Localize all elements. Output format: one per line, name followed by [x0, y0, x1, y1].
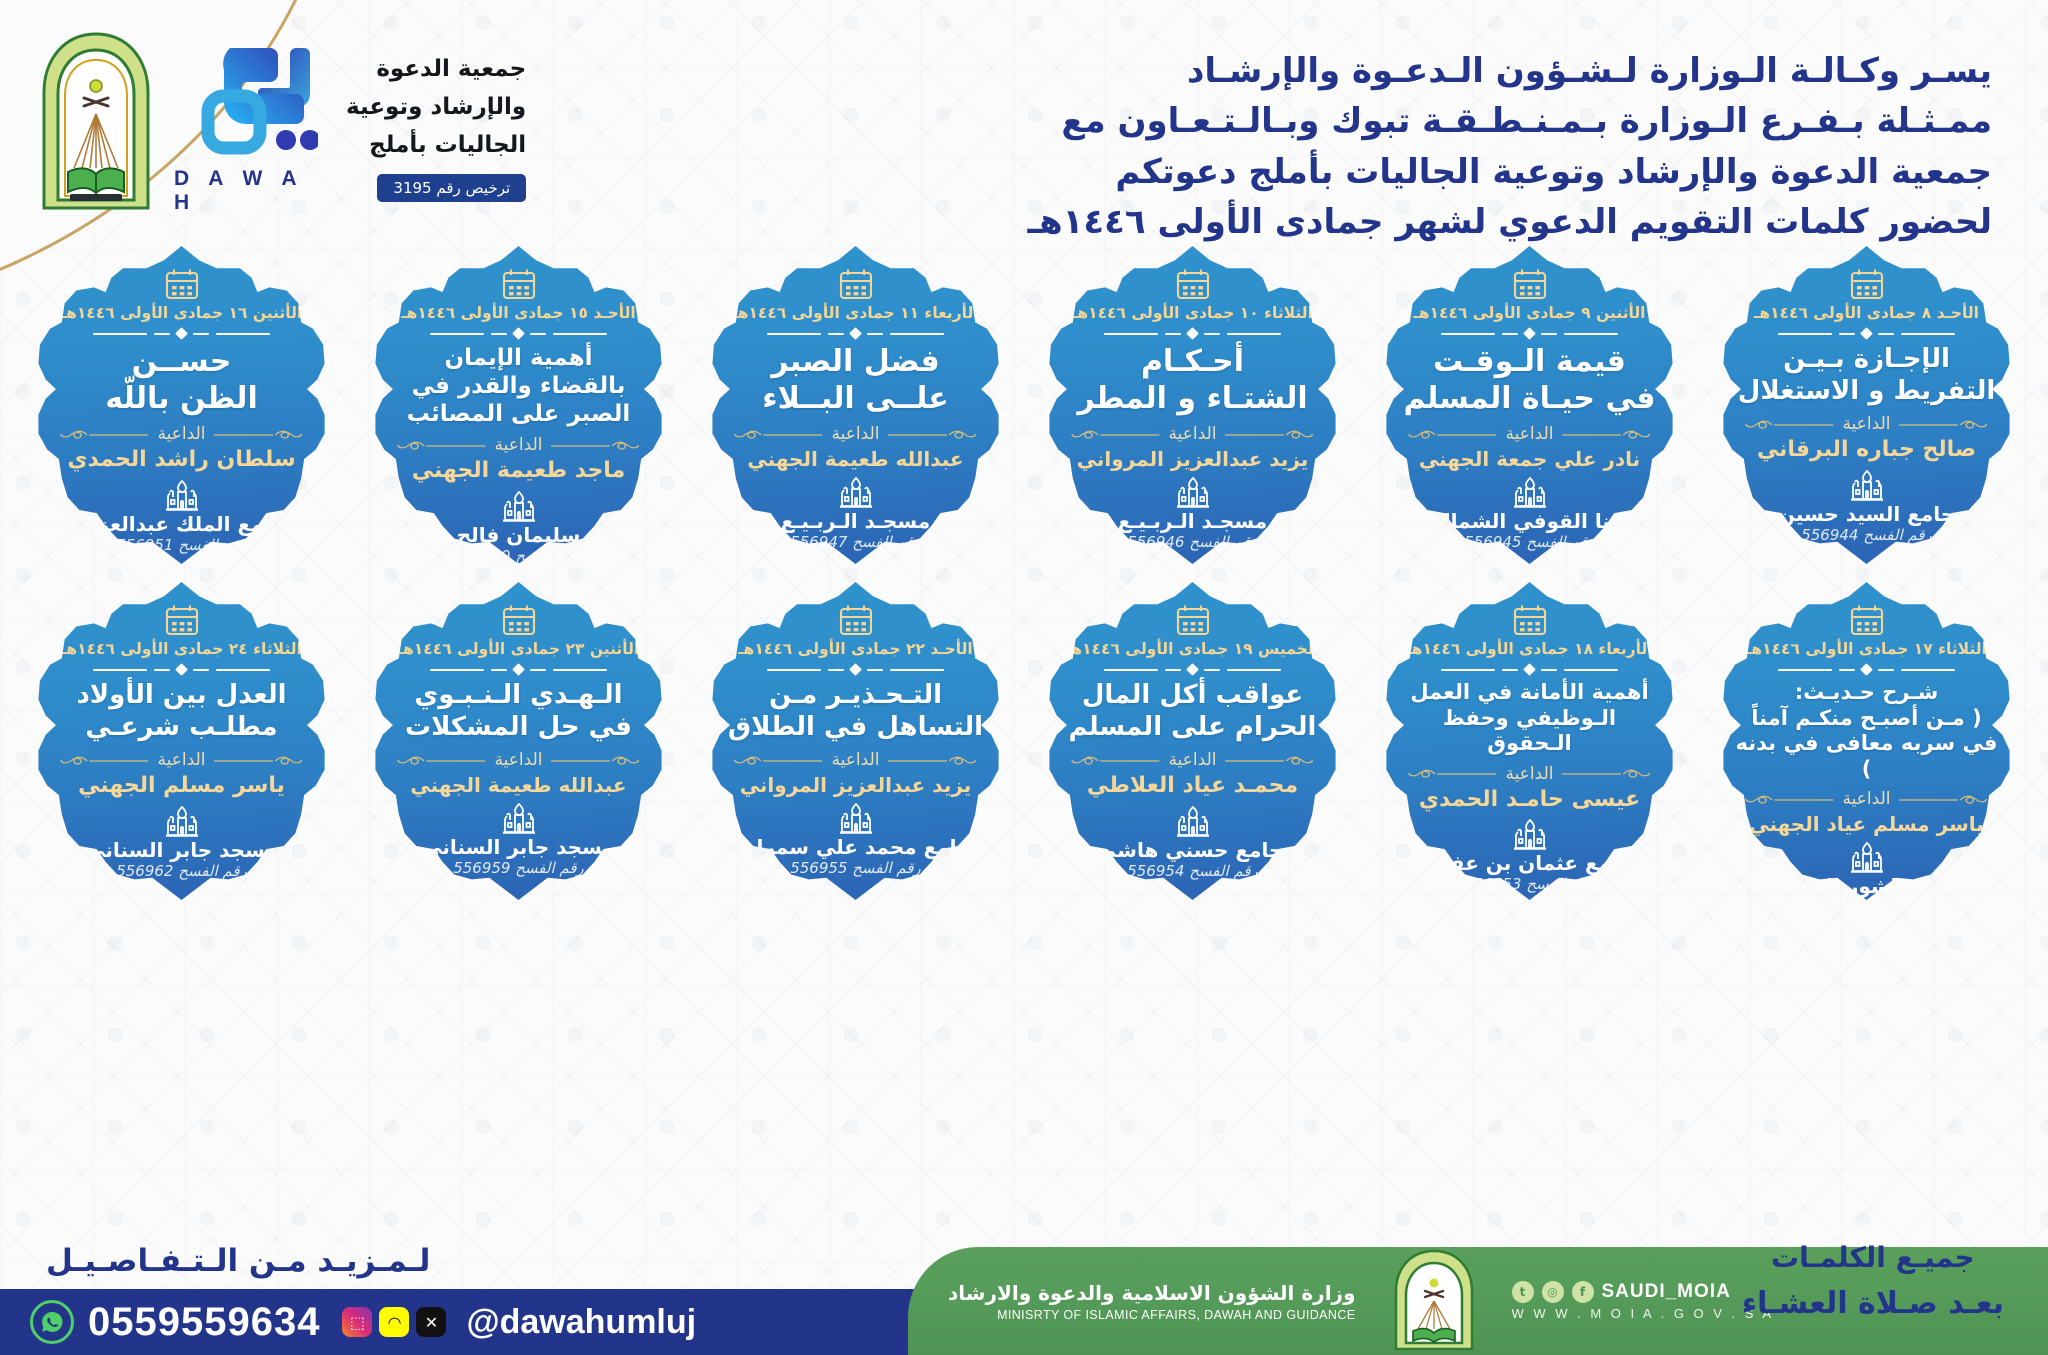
mosque-icon: [1173, 476, 1213, 508]
lecture-card[interactable]: الأربعاء ١١ جمادى الأولى ١٤٤٦هـ فضل الصب…: [710, 246, 1002, 564]
logo-group: D A W A H جمعية الدعوة والإرشاد وتوعية ا…: [34, 30, 526, 216]
mosque-icon: [836, 476, 876, 508]
card-fasah-number: رقم الفسح 556945: [1464, 533, 1595, 551]
speaker-label-row: الداعية: [1739, 414, 1994, 434]
speaker-label-row: الداعية: [54, 424, 309, 444]
card-date: الأثنين ١٦ جمادى الأولى ١٤٤٦هـ: [61, 304, 302, 322]
card-title-line: الإجـازة بـيـن: [1738, 344, 1995, 376]
poster-header: D A W A H جمعية الدعوة والإرشاد وتوعية ا…: [0, 0, 2048, 250]
instagram-icon-green[interactable]: ◎: [1542, 1281, 1564, 1303]
card-title-line: الشتـاء و المطر: [1077, 381, 1307, 418]
speaker-label-row: الداعية: [728, 750, 983, 770]
card-mosque: جامع محمد علي سمران: [739, 836, 971, 858]
title-separator: [66, 665, 296, 674]
speaker-label-row: الداعية: [391, 750, 646, 770]
card-title: قيمة الـوقـتفي حيـاة المسلم: [1402, 344, 1658, 417]
card-title: أهمية الأمانة في العملالـوظيفي وحفظ الـح…: [1396, 680, 1664, 757]
card-title: شـرح حـديـث:( مـن أصبـح منكـم آمناًفي سر…: [1733, 680, 2001, 782]
card-title-line: في سربه معافى في بدنه ): [1735, 731, 1999, 782]
card-speaker: ياسر مسلم عياد الجهني: [1749, 812, 1984, 836]
card-title-line: التفريط و الاستغلال: [1738, 376, 1995, 408]
ministry-handle[interactable]: SAUDI_MOIA: [1602, 1281, 1731, 1303]
card-fasah-number: رقم الفسح 556955: [790, 859, 921, 877]
lecture-cards-grid: الأحـد ٨ جمادى الأولى ١٤٤٦هـ الإجـازة بـ…: [14, 246, 2034, 912]
card-fasah-number: رقم الفسح 556953: [1464, 875, 1595, 893]
card-speaker: عبدالله طعيمة الجهني: [747, 447, 963, 471]
card-title-line: ( مـن أصبـح منكـم آمناً: [1735, 706, 1999, 732]
calendar-icon: [165, 268, 199, 300]
daiya-label: الداعية: [158, 424, 206, 444]
headline-line-1: يسـر وكـالـة الـوزارة لـشـؤون الـدعـوة و…: [526, 46, 1992, 96]
mosque-icon: [1173, 805, 1213, 837]
calendar-icon: [839, 604, 873, 636]
headline-line-4: لحضور كلمات التقويم الدعوي لشهر جمادى ال…: [526, 197, 1992, 247]
lecture-card[interactable]: الأحـد ٨ جمادى الأولى ١٤٤٦هـ الإجـازة بـ…: [1721, 246, 2013, 564]
ornament-left-icon: [1562, 767, 1656, 780]
ornament-right-icon: [1065, 754, 1159, 767]
card-date: الخميس ١٩ جمادى الأولى ١٤٤٦هـ: [1066, 640, 1319, 658]
ornament-left-icon: [551, 439, 645, 452]
more-details-label: لـمـزيـد مـن الـتـفـاصـيـل: [0, 1243, 1010, 1279]
card-speaker: يزيد عبدالعزيز المرواني: [740, 773, 972, 797]
lecture-card[interactable]: الثلاثاء ١٧ جمادى الأولى ١٤٤٦هـ شـرح حـد…: [1721, 582, 2013, 900]
lecture-card-wrapper: الأربعاء ١١ جمادى الأولى ١٤٤٦هـ فضل الصب…: [688, 246, 1023, 576]
speaker-label-row: الداعية: [1402, 424, 1657, 444]
card-title-line: في حل المشكلات: [405, 712, 632, 744]
mosque-icon: [836, 802, 876, 834]
card-fasah-number: رقم الفسح 556950: [453, 547, 584, 565]
ornament-left-icon: [888, 754, 982, 767]
calendar-icon: [1850, 604, 1884, 636]
card-speaker: نادر علي جمعة الجهني: [1419, 447, 1640, 471]
card-title-line: الظن باللّه: [105, 381, 257, 418]
ornament-right-icon: [391, 754, 485, 767]
lecture-card[interactable]: الأثنين ٢٣ جمادى الأولى ١٤٤٦هـ الـهـدي ا…: [373, 582, 665, 900]
card-date: الثلاثاء ١٠ جمادى الأولى ١٤٤٦هـ: [1072, 304, 1313, 322]
facebook-icon[interactable]: f: [1572, 1281, 1594, 1303]
card-fasah-number: رقم الفسح 556959: [453, 859, 584, 877]
card-title-line: أهمية الأمانة في العمل: [1398, 680, 1662, 706]
card-speaker: ماجد طعيمة الجهني: [412, 458, 625, 484]
daiya-label: الداعية: [1169, 750, 1217, 770]
card-title-line: مطلـب شرعـي: [76, 712, 286, 744]
card-title: عواقب أكل المالالحرام على المسلم: [1067, 680, 1319, 743]
lecture-card-wrapper: الثلاثاء ١٧ جمادى الأولى ١٤٤٦هـ شـرح حـد…: [1699, 582, 2034, 912]
ministry-footer-text: وزارة الشؤون الاسلامية والدعوة والارشاد …: [948, 1281, 1356, 1322]
speaker-label-row: الداعية: [1402, 764, 1657, 784]
lecture-card-wrapper: الأحـد ٨ جمادى الأولى ١٤٤٦هـ الإجـازة بـ…: [1699, 246, 2034, 576]
social-handle[interactable]: @dawahumluj: [466, 1303, 696, 1342]
instagram-icon[interactable]: ⬚: [342, 1307, 372, 1337]
ministry-social-block: t ◎ f SAUDI_MOIA W W W . M O I A . G O V…: [1512, 1281, 1775, 1321]
poster-root: D A W A H جمعية الدعوة والإرشاد وتوعية ا…: [0, 0, 2048, 1355]
license-badge: ترخيص رقم 3195: [377, 174, 526, 202]
card-mosque: مسجـد الـربـيـع: [1118, 510, 1267, 532]
card-title-line: العدل بين الأولاد: [76, 680, 286, 712]
title-separator: [66, 329, 296, 338]
card-mosque: جامع حسني هاشم: [1102, 839, 1284, 861]
mosque-icon: [1510, 818, 1550, 850]
card-title: أهمية الإيمانبالقضاء والقدر فيالصبر على …: [405, 344, 633, 428]
daiya-label: الداعية: [495, 435, 543, 455]
mosque-icon: [1847, 469, 1887, 501]
ministry-website-url[interactable]: W W W . M O I A . G O V . S A: [1512, 1306, 1775, 1321]
lecture-card-wrapper: الأحـد ٢٢ جمادى الأولى ١٤٤٦هـ التـحـذيـر…: [688, 582, 1023, 912]
card-mosque: مسجد جابر السناني: [85, 839, 278, 861]
mosque-icon: [162, 479, 202, 511]
after-isha-line-2: بعـد صـلاة العشـاء: [1742, 1286, 2004, 1321]
headline-line-3: جمعية الدعوة والإرشاد وتوعية الجاليات بأ…: [526, 147, 1992, 197]
poster-footer: لـمـزيـد مـن الـتـفـاصـيـل 0559559634 ⬚ …: [0, 1235, 2048, 1355]
title-separator: [740, 329, 970, 338]
card-mosque: جامع عثمان بن عفان: [1426, 852, 1633, 874]
card-title: أحـكـامالشتـاء و المطر: [1075, 344, 1309, 417]
calendar-icon: [839, 268, 873, 300]
mosque-icon: [499, 802, 539, 834]
card-title-line: شـرح حـديـث:: [1735, 680, 1999, 706]
ministry-name-english: MINISRTY OF ISLAMIC AFFAIRS, DAWAH AND G…: [948, 1308, 1356, 1322]
ornament-left-icon: [214, 428, 308, 441]
calendar-icon: [1850, 268, 1884, 300]
ornament-right-icon: [1402, 767, 1496, 780]
daiya-label: الداعية: [495, 750, 543, 770]
title-separator: [1077, 665, 1307, 674]
title-separator: [1751, 665, 1981, 674]
title-separator: [403, 665, 633, 674]
ornament-right-icon: [1739, 418, 1833, 431]
title-separator: [1414, 329, 1644, 338]
ornament-left-icon: [551, 754, 645, 767]
speaker-label-row: الداعية: [54, 750, 309, 770]
card-fasah-number: رقم الفسح 556951: [116, 536, 247, 554]
card-title-line: التـحـذيـر مـن: [728, 680, 983, 712]
ornament-left-icon: [1562, 428, 1656, 441]
card-title-line: قيمة الـوقـت: [1404, 344, 1656, 381]
card-date: الأحـد ١٥ جمادى الأولى ١٤٤٦هـ: [401, 304, 635, 322]
mosque-icon: [1847, 841, 1887, 873]
dawah-mark-icon: [186, 44, 318, 162]
speaker-label-row: الداعية: [1739, 789, 1994, 809]
ornament-right-icon: [1065, 428, 1159, 441]
card-title-line: أحـكـام: [1077, 344, 1307, 381]
card-title-line: حســن: [105, 344, 257, 381]
after-isha-note: جميـع الكلمـات بعـد صـلاة العشـاء: [1742, 1241, 2004, 1321]
card-fasah-number: رقم الفسح 556944: [1801, 526, 1932, 544]
lecture-card-wrapper: الثلاثاء ٢٤ جمادى الأولى ١٤٤٦هـ العدل بي…: [14, 582, 349, 912]
calendar-icon: [165, 604, 199, 636]
calendar-icon: [1513, 604, 1547, 636]
ornament-left-icon: [1225, 754, 1319, 767]
daiya-label: الداعية: [1169, 424, 1217, 444]
diamond-icon: [1860, 663, 1873, 676]
diamond-icon: [849, 663, 862, 676]
card-title-line: علــى البــلاء: [762, 381, 948, 418]
lecture-card-wrapper: الثلاثاء ١٠ جمادى الأولى ١٤٤٦هـ أحـكـاما…: [1025, 246, 1360, 576]
card-date: الأحـد ٨ جمادى الأولى ١٤٤٦هـ: [1754, 304, 1979, 322]
card-title: الـهـدي الـنـبـويفي حل المشكلات: [403, 680, 634, 743]
diamond-icon: [1186, 663, 1199, 676]
card-fasah-number: رقم الفسح 556962: [116, 862, 247, 880]
card-speaker: عيسى حامـد الحمدي: [1419, 787, 1640, 813]
ornament-left-icon: [1899, 418, 1993, 431]
card-mosque: حسن عاشور الصيادي: [1762, 875, 1972, 897]
daiya-label: الداعية: [1843, 789, 1891, 809]
card-speaker: يزيد عبدالعزيز المرواني: [1077, 447, 1309, 471]
dawah-wordmark: D A W A H: [174, 167, 330, 215]
lecture-card[interactable]: الخميس ١٩ جمادى الأولى ١٤٤٦هـ عواقب أكل …: [1047, 582, 1339, 900]
ornament-right-icon: [54, 754, 148, 767]
card-title-line: الـوظيفي وحفظ الـحقوق: [1398, 706, 1662, 757]
x-twitter-icon[interactable]: ✕: [416, 1307, 446, 1337]
twitter-icon[interactable]: t: [1512, 1281, 1534, 1303]
daiya-label: الداعية: [832, 424, 880, 444]
whatsapp-icon[interactable]: [30, 1300, 74, 1344]
dawah-arabic-line-3: الجاليات بأملج: [369, 132, 526, 158]
calendar-icon: [1176, 604, 1210, 636]
card-mosque: مسجد جابر السناني: [422, 836, 615, 858]
mosque-icon: [162, 805, 202, 837]
card-speaker: ياسر مسلم الجهني: [78, 773, 285, 799]
lecture-card-wrapper: الأحـد ١٥ جمادى الأولى ١٤٤٦هـ أهمية الإي…: [351, 246, 686, 576]
ornament-right-icon: [728, 754, 822, 767]
card-fasah-number: رقم الفسح 556952: [1801, 898, 1932, 916]
snapchat-icon[interactable]: ◠: [379, 1307, 409, 1337]
card-title: العدل بين الأولادمطلـب شرعـي: [74, 680, 288, 743]
lecture-card[interactable]: الأحـد ٢٢ جمادى الأولى ١٤٤٦هـ التـحـذيـر…: [710, 582, 1002, 900]
daiya-label: الداعية: [1843, 414, 1891, 434]
card-date: الأربعاء ١٨ جمادى الأولى ١٤٤٦هـ: [1406, 640, 1652, 658]
card-title-line: فضل الصبر: [762, 344, 948, 381]
lecture-card[interactable]: الثلاثاء ٢٤ جمادى الأولى ١٤٤٦هـ العدل بي…: [36, 582, 328, 900]
headline-line-2: ممـثـلة بـفـرع الـوزارة بـمـنـطـقـة تبوك…: [526, 96, 1992, 146]
title-separator: [403, 329, 633, 338]
title-separator: [1077, 329, 1307, 338]
footer-left-block: لـمـزيـد مـن الـتـفـاصـيـل 0559559634 ⬚ …: [0, 1235, 1010, 1355]
diamond-icon: [512, 663, 525, 676]
diamond-icon: [1523, 663, 1536, 676]
card-title-line: الـهـدي الـنـبـوي: [405, 680, 632, 712]
dawah-arabic-line-1: جمعية الدعوة: [376, 56, 526, 82]
card-title: التـحـذيـر مـنالتساهل في الطلاق: [726, 680, 985, 743]
diamond-icon: [1186, 327, 1199, 340]
diamond-icon: [849, 327, 862, 340]
lecture-card[interactable]: الأحـد ١٥ جمادى الأولى ١٤٤٦هـ أهمية الإي…: [373, 246, 665, 564]
mosque-icon: [1510, 476, 1550, 508]
card-fasah-number: رقم الفسح 556954: [1127, 862, 1258, 880]
ornament-right-icon: [1402, 428, 1496, 441]
card-title-line: أهمية الإيمان: [407, 344, 631, 372]
diamond-icon: [175, 327, 188, 340]
card-mosque: مسجـد الـربـيـع: [781, 510, 930, 532]
speaker-label-row: الداعية: [1065, 424, 1320, 444]
card-title: حســنالظن باللّه: [103, 344, 259, 417]
card-title-line: عواقب أكل المال: [1069, 680, 1317, 712]
ministry-name-arabic: وزارة الشؤون الاسلامية والدعوة والارشاد: [948, 1281, 1356, 1305]
ministry-emblem-icon: [34, 30, 158, 216]
lecture-card-wrapper: الأثنين ٩ جمادى الأولى ١٤٤٦هـ قيمة الـوق…: [1362, 246, 1697, 576]
card-mosque: سليمان فالح: [457, 524, 580, 546]
card-speaker: سلطان راشد الحمدي: [67, 447, 295, 473]
ornament-left-icon: [214, 754, 308, 767]
card-title-line: في حيـاة المسلم: [1404, 381, 1656, 418]
contact-bar: 0559559634 ⬚ ◠ ✕ @dawahumluj: [0, 1289, 1010, 1355]
ornament-left-icon: [888, 428, 982, 441]
mosque-icon: [499, 490, 539, 522]
after-isha-line-1: جميـع الكلمـات: [1742, 1241, 2004, 1274]
card-title: الإجـازة بـيـنالتفريط و الاستغلال: [1736, 344, 1997, 407]
calendar-icon: [1513, 268, 1547, 300]
social-icon-group: ⬚ ◠ ✕: [342, 1307, 446, 1337]
ministry-footer-emblem-icon: [1382, 1249, 1486, 1353]
calendar-icon: [502, 268, 536, 300]
lecture-card[interactable]: الثلاثاء ١٠ جمادى الأولى ١٤٤٦هـ أحـكـاما…: [1047, 246, 1339, 564]
title-separator: [1414, 665, 1644, 674]
lecture-card[interactable]: الأثنين ٩ جمادى الأولى ١٤٤٦هـ قيمة الـوق…: [1384, 246, 1676, 564]
lecture-card-wrapper: الأربعاء ١٨ جمادى الأولى ١٤٤٦هـ أهمية ال…: [1362, 582, 1697, 912]
card-mosque: مهنا القوفي الشمالي: [1423, 510, 1636, 532]
daiya-label: الداعية: [1506, 764, 1554, 784]
card-date: الأثنين ٢٣ جمادى الأولى ١٤٤٦هـ: [398, 640, 639, 658]
card-title-line: الصبر على المصائب: [407, 400, 631, 428]
card-mosque: جامع السيد حسين: [1778, 503, 1955, 525]
lecture-card[interactable]: الأثنين ١٦ جمادى الأولى ١٤٤٦هـ حســنالظن…: [36, 246, 328, 564]
card-date: الأثنين ٩ جمادى الأولى ١٤٤٦هـ: [1414, 304, 1646, 322]
ministry-social-row: t ◎ f SAUDI_MOIA: [1512, 1281, 1731, 1303]
card-date: الأحـد ٢٢ جمادى الأولى ١٤٤٦هـ: [738, 640, 972, 658]
ornament-left-icon: [1225, 428, 1319, 441]
card-title-line: الحرام على المسلم: [1069, 712, 1317, 744]
calendar-icon: [502, 604, 536, 636]
card-speaker: صالح جباره البرقاني: [1757, 437, 1976, 463]
speaker-label-row: الداعية: [728, 424, 983, 444]
card-title: فضل الصبرعلــى البــلاء: [760, 344, 950, 417]
lecture-card[interactable]: الأربعاء ١٨ جمادى الأولى ١٤٤٦هـ أهمية ال…: [1384, 582, 1676, 900]
card-title-line: بالقضاء والقدر في: [407, 372, 631, 400]
title-separator: [740, 665, 970, 674]
lecture-card-wrapper: الأثنين ٢٣ جمادى الأولى ١٤٤٦هـ الـهـدي ا…: [351, 582, 686, 912]
daiya-label: الداعية: [1506, 424, 1554, 444]
speaker-label-row: الداعية: [391, 435, 646, 455]
lecture-card-wrapper: الأثنين ١٦ جمادى الأولى ١٤٤٦هـ حســنالظن…: [14, 246, 349, 576]
diamond-icon: [1860, 327, 1873, 340]
lecture-card-wrapper: الخميس ١٩ جمادى الأولى ١٤٤٦هـ عواقب أكل …: [1025, 582, 1360, 912]
daiya-label: الداعية: [158, 750, 206, 770]
diamond-icon: [1523, 327, 1536, 340]
daiya-label: الداعية: [832, 750, 880, 770]
diamond-icon: [512, 327, 525, 340]
card-speaker: عبدالله طعيمة الجهني: [410, 773, 626, 797]
card-fasah-number: رقم الفسح 556946: [1127, 533, 1258, 551]
ornament-right-icon: [391, 439, 485, 452]
card-title-line: التساهل في الطلاق: [728, 712, 983, 744]
ornament-right-icon: [1739, 793, 1833, 806]
card-fasah-number: رقم الفسح 556947: [790, 533, 921, 551]
card-date: الثلاثاء ١٧ جمادى الأولى ١٤٤٦هـ: [1746, 640, 1987, 658]
dawah-logo: D A W A H: [174, 44, 330, 215]
card-date: الثلاثاء ٢٤ جمادى الأولى ١٤٤٦هـ: [61, 640, 302, 658]
diamond-icon: [175, 663, 188, 676]
dawah-arabic-line-2: والإرشاد وتوعية: [346, 94, 526, 120]
ornament-left-icon: [1899, 793, 1993, 806]
card-speaker: محمـد عياد العلاطي: [1087, 773, 1298, 799]
whatsapp-number[interactable]: 0559559634: [88, 1300, 320, 1345]
card-date: الأربعاء ١١ جمادى الأولى ١٤٤٦هـ: [732, 304, 978, 322]
card-mosque: جامع الملك عبدالعزيز: [78, 513, 286, 535]
title-separator: [1751, 329, 1981, 338]
ornament-right-icon: [54, 428, 148, 441]
ornament-right-icon: [728, 428, 822, 441]
dawah-arabic-name: جمعية الدعوة والإرشاد وتوعية الجاليات بأ…: [346, 56, 526, 202]
speaker-label-row: الداعية: [1065, 750, 1320, 770]
headline-block: يسـر وكـالـة الـوزارة لـشـؤون الـدعـوة و…: [526, 22, 2014, 247]
calendar-icon: [1176, 268, 1210, 300]
